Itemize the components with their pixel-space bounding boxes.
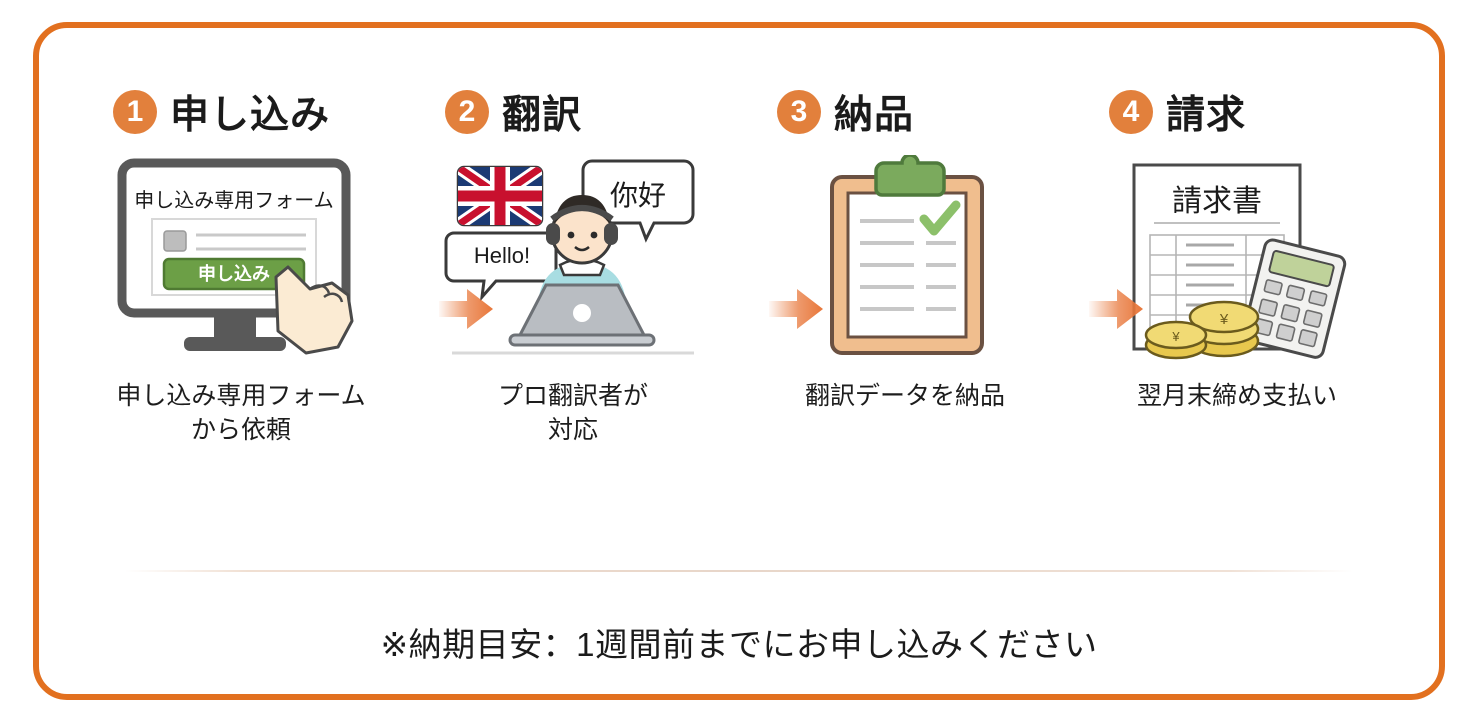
steps-row: 1 申し込み 申し込み専用フォーム 申し込み <box>39 28 1439 548</box>
clipboard-clip <box>876 155 944 195</box>
svg-text:¥: ¥ <box>1219 311 1229 328</box>
bubble-text-english: Hello! <box>474 243 530 268</box>
step-3-header: 3 納品 <box>777 84 914 140</box>
step-number-badge-2: 2 <box>445 90 489 134</box>
process-flow-card: 1 申し込み 申し込み専用フォーム 申し込み <box>33 22 1445 700</box>
monitor-screen-title: 申し込み専用フォーム <box>134 189 333 212</box>
section-divider <box>125 570 1353 572</box>
step-title-1: 申し込み <box>170 84 330 140</box>
step-number-badge-4: 4 <box>1109 90 1153 134</box>
monitor-submit-button-label: 申し込み <box>198 263 270 284</box>
step-title-4: 請求 <box>1166 84 1246 140</box>
step-4-header: 4 請求 <box>1109 84 1246 140</box>
invoice-document-title: 請求書 <box>1172 185 1262 218</box>
step-caption-2: プロ翻訳者が 対応 <box>498 380 648 448</box>
footer-note: ※納期目安：1週間前までにお申し込みください <box>39 618 1439 666</box>
step-caption-1: 申し込み専用フォーム から依頼 <box>116 380 365 448</box>
step-1-header: 1 申し込み <box>113 84 330 140</box>
arrow-step2-to-step3 <box>767 286 825 332</box>
illustration-clipboard <box>770 154 1040 366</box>
monitor-illustration-svg: 申し込み専用フォーム 申し込み <box>110 155 372 365</box>
step-caption-4: 翌月末締め支払い <box>1137 380 1337 414</box>
step-2-translation: 2 翻訳 <box>423 28 723 448</box>
invoice-illustration-svg: 請求書 <box>1106 155 1368 365</box>
step-number-badge-1: 1 <box>113 90 157 134</box>
step-caption-3: 翻訳データを納品 <box>805 380 1005 414</box>
uk-flag-icon <box>458 167 542 225</box>
step-title-3: 納品 <box>834 84 914 140</box>
svg-text:¥: ¥ <box>1171 329 1180 344</box>
bubble-text-chinese: 你好 <box>610 180 666 211</box>
step-1-application: 1 申し込み 申し込み専用フォーム 申し込み <box>91 28 391 448</box>
step-number-badge-3: 3 <box>777 90 821 134</box>
step-2-header: 2 翻訳 <box>445 84 582 140</box>
step-3-delivery: 3 納品 <box>755 28 1055 414</box>
clipboard-illustration-svg <box>774 155 1036 365</box>
illustration-invoice: 請求書 <box>1102 154 1372 366</box>
illustration-translator: Hello! 你好 <box>438 154 708 366</box>
illustration-application-form-monitor: 申し込み専用フォーム 申し込み <box>106 154 376 366</box>
step-4-billing: 4 請求 請求書 <box>1087 28 1387 414</box>
translator-illustration-svg: Hello! 你好 <box>442 155 704 365</box>
arrow-step3-to-step4 <box>1087 286 1145 332</box>
step-title-2: 翻訳 <box>502 84 582 140</box>
arrow-step1-to-step2 <box>437 286 495 332</box>
